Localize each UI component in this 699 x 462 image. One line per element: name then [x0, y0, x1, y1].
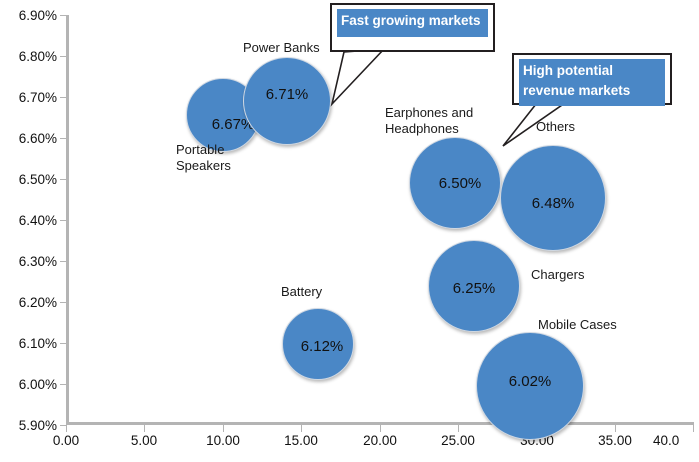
callout-high-potential-revenue-markets-text: High potential revenue markets — [519, 59, 665, 106]
bubble-chart: 6.90% 6.80% 6.70% 6.60% 6.50% 6.40% 6.30… — [0, 0, 699, 462]
callout-fast-growing-markets-text: Fast growing markets — [337, 9, 488, 37]
callout-fast-growing-markets[interactable]: Fast growing markets — [330, 3, 495, 52]
callout-high-potential-revenue-markets[interactable]: High potential revenue markets — [512, 53, 672, 105]
